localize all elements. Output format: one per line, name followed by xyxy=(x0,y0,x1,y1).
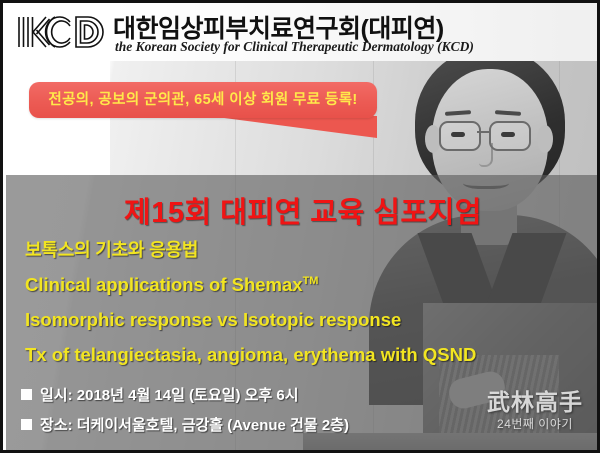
watermark: 武林高手 24번째 이야기 xyxy=(487,390,583,432)
topic-text: Clinical applications of Shemax xyxy=(25,274,303,295)
portrait-eye-right xyxy=(501,132,515,137)
list-item: Isomorphic response vs Isotopic response xyxy=(25,305,585,340)
event-datetime-text: 일시: 2018년 4월 14일 (토요일) 오후 6시 xyxy=(40,387,299,404)
poster-header: 대한임상피부치료연구회(대피연) the Korean Society for … xyxy=(3,3,600,61)
promo-bubble: 전공의, 공보의 군의관, 65세 이상 회원 무료 등록! xyxy=(29,82,377,118)
watermark-title: 武林高手 xyxy=(487,390,583,416)
topic-text: 보톡스의 기초와 응용법 xyxy=(25,240,198,260)
portrait-glasses-bridge xyxy=(477,131,489,133)
square-bullet-icon xyxy=(21,389,32,400)
topic-text: Isomorphic response vs Isotopic response xyxy=(25,309,401,330)
portrait-ear-right xyxy=(537,125,553,153)
list-item: Tx of telangiectasia, angioma, erythema … xyxy=(25,340,585,370)
portrait-nose xyxy=(479,143,493,167)
topic-text: Tx of telangiectasia, angioma, erythema … xyxy=(25,344,476,365)
event-venue-text: 장소: 더케이서울호텔, 금강홀 (Avenue 건물 2층) xyxy=(40,417,349,434)
promo-bubble-tail xyxy=(209,116,377,138)
society-name-english: the Korean Society for Clinical Therapeu… xyxy=(115,39,474,55)
watermark-subtitle: 24번째 이야기 xyxy=(487,416,583,432)
topic-superscript: TM xyxy=(303,275,319,287)
topic-list: 보톡스의 기초와 응용법 Clinical applications of Sh… xyxy=(25,235,585,370)
kcd-logo-icon xyxy=(14,14,106,50)
portrait-eye-left xyxy=(451,132,465,137)
page-title: 제15회 대피연 교육 심포지엄 xyxy=(3,189,600,231)
square-bullet-icon xyxy=(21,419,32,430)
list-item: 보톡스의 기초와 응용법 xyxy=(25,235,585,270)
list-item: Clinical applications of ShemaxTM xyxy=(25,270,585,305)
symposium-poster: 대한임상피부치료연구회(대피연) the Korean Society for … xyxy=(0,0,600,453)
promo-bubble-text: 전공의, 공보의 군의관, 65세 이상 회원 무료 등록! xyxy=(29,82,377,118)
